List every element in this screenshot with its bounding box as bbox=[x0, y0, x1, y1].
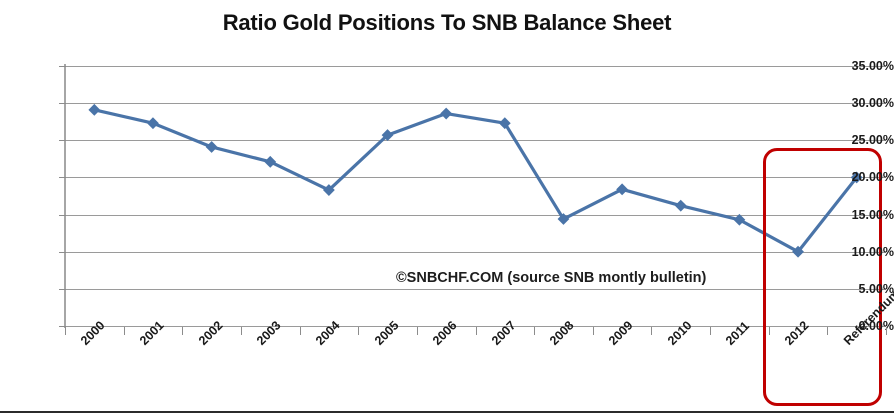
x-axis-tick-mark bbox=[886, 327, 887, 335]
referendum-highlight-box bbox=[763, 148, 882, 406]
x-axis-tick-mark bbox=[593, 327, 594, 335]
gridline bbox=[65, 66, 886, 67]
y-axis-tick-label: 30.00% bbox=[832, 96, 894, 110]
y-axis-tick-mark bbox=[59, 177, 66, 178]
x-axis-tick-mark bbox=[124, 327, 125, 335]
gridline bbox=[65, 103, 886, 104]
y-axis-tick-label: 10.00% bbox=[832, 245, 894, 259]
x-axis-tick-mark bbox=[827, 327, 828, 335]
x-axis-tick-mark bbox=[651, 327, 652, 335]
x-axis-tick-mark bbox=[358, 327, 359, 335]
y-axis-tick-mark bbox=[59, 140, 66, 141]
y-axis-tick-mark bbox=[59, 103, 66, 104]
x-axis-tick-mark bbox=[65, 327, 66, 335]
x-axis-tick-mark bbox=[769, 327, 770, 335]
x-axis-tick-mark bbox=[182, 327, 183, 335]
y-axis-tick-label: 15.00% bbox=[832, 208, 894, 222]
y-axis-tick-mark bbox=[59, 215, 66, 216]
chart-title: Ratio Gold Positions To SNB Balance Shee… bbox=[0, 10, 894, 36]
x-axis-tick-mark bbox=[476, 327, 477, 335]
y-axis-tick-label: 20.00% bbox=[832, 170, 894, 184]
x-axis-tick-mark bbox=[300, 327, 301, 335]
y-axis-tick-mark bbox=[59, 289, 66, 290]
chart-container: Ratio Gold Positions To SNB Balance Shee… bbox=[0, 0, 894, 413]
x-axis-tick-mark bbox=[417, 327, 418, 335]
y-axis-tick-mark bbox=[59, 66, 66, 67]
x-axis-tick-mark bbox=[710, 327, 711, 335]
x-axis-tick-mark bbox=[534, 327, 535, 335]
y-axis-tick-label: 25.00% bbox=[832, 133, 894, 147]
x-axis-tick-mark bbox=[241, 327, 242, 335]
y-axis-tick-mark bbox=[59, 252, 66, 253]
y-axis-tick-label: 35.00% bbox=[832, 59, 894, 73]
gridline bbox=[65, 140, 886, 141]
source-watermark: ©SNBCHF.COM (source SNB montly bulletin) bbox=[396, 270, 706, 286]
